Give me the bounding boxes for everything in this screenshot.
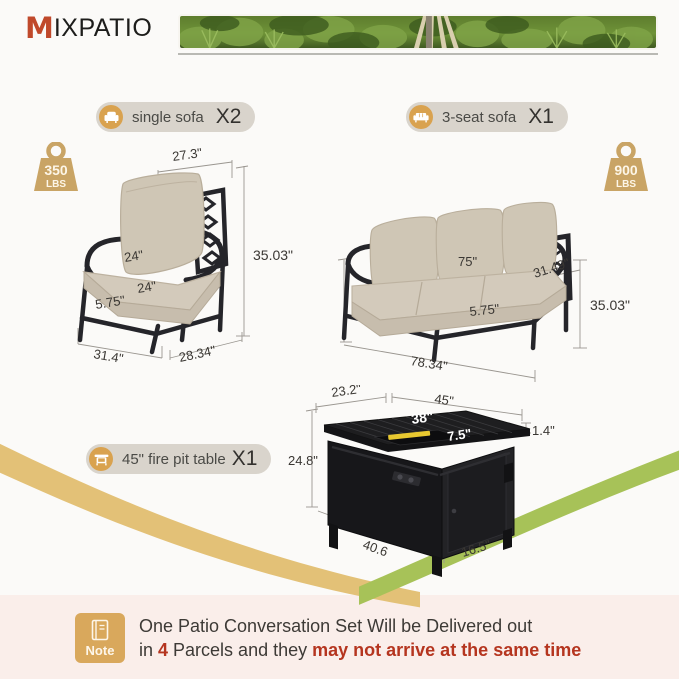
logo-wordmark: IXPATIO [54, 16, 152, 41]
dim-width-top: 27.3" [171, 145, 203, 164]
infographic-page: M IXPATIO [0, 0, 679, 679]
dim-height: 35.03" [590, 297, 630, 313]
ignition-knob [408, 477, 413, 482]
pill-single-sofa: single sofa X2 [96, 102, 255, 132]
dim-width: 78.34" [410, 353, 449, 374]
control-knob [397, 474, 402, 479]
header-divider [178, 53, 658, 55]
note-line2-middle: Parcels and they [168, 640, 312, 660]
note-warning-text: may not arrive at the same time [312, 640, 581, 660]
door-handle [452, 509, 457, 514]
note-line2-prefix: in [139, 640, 158, 660]
sofa-icon [409, 105, 433, 129]
armchair-icon [99, 105, 123, 129]
header: M IXPATIO [0, 0, 679, 66]
dim-seat-span: 75" [458, 254, 477, 269]
brand-logo: M IXPATIO [25, 13, 152, 43]
dim-seat-width: 24" [136, 278, 158, 296]
note-message: One Patio Conversation Set Will be Deliv… [139, 614, 581, 663]
dim-top-thickness: 1.4" [532, 423, 555, 438]
three-seat-sofa-illustration: 75" 31.49" 35.03" 5.75" 78.34" [330, 170, 660, 385]
pill-label: single sofa [132, 109, 204, 126]
note-badge-label: Note [86, 644, 115, 657]
header-banner-image [178, 14, 658, 50]
pill-label: 3-seat sofa [442, 109, 516, 126]
dim-height: 35.03" [253, 247, 293, 263]
note-badge-icon: Note [75, 613, 125, 663]
back-cushion-center [436, 209, 505, 285]
cabinet-left-panel [328, 441, 442, 559]
single-sofa-illustration: 27.3" 35.03" 24" 24" 5.75" 31.4" 28.34" [30, 140, 320, 380]
dim-top-width: 45" [434, 391, 455, 409]
book-icon [90, 619, 110, 641]
foliage-banner-graphic [180, 16, 656, 48]
pill-quantity: X1 [232, 447, 258, 471]
pill-fire-pit-table: 45" fire pit table X1 [86, 444, 271, 474]
logo-mark-icon: M [25, 14, 53, 43]
dim-cushion-thickness: 5.75" [469, 301, 501, 319]
pill-quantity: X1 [528, 105, 554, 129]
dim-seat-back-height: 24" [123, 247, 145, 265]
note-line-2: in 4 Parcels and they may not arrive at … [139, 638, 581, 662]
note-parcel-count: 4 [158, 640, 168, 660]
table-icon [89, 447, 113, 471]
pill-three-seat-sofa: 3-seat sofa X1 [406, 102, 568, 132]
dim-depth-right: 28.34" [178, 342, 218, 364]
fire-pit-table-illustration: 23.2" 45" 1.4" 24.8" 40.6 16.5" 38" 7.5" [288, 385, 588, 585]
pill-quantity: X2 [216, 105, 242, 129]
dim-burner-width: 38" [410, 408, 434, 427]
dim-height: 24.8" [288, 453, 318, 468]
pill-label: 45" fire pit table [122, 451, 226, 468]
note-line1-text: One Patio Conversation Set Will be Deliv… [139, 616, 532, 636]
note-line-1: One Patio Conversation Set Will be Deliv… [139, 614, 581, 638]
dim-depth-left: 31.4" [92, 346, 124, 366]
delivery-note: Note One Patio Conversation Set Will be … [75, 613, 581, 663]
dim-top-depth: 23.2" [330, 385, 362, 400]
